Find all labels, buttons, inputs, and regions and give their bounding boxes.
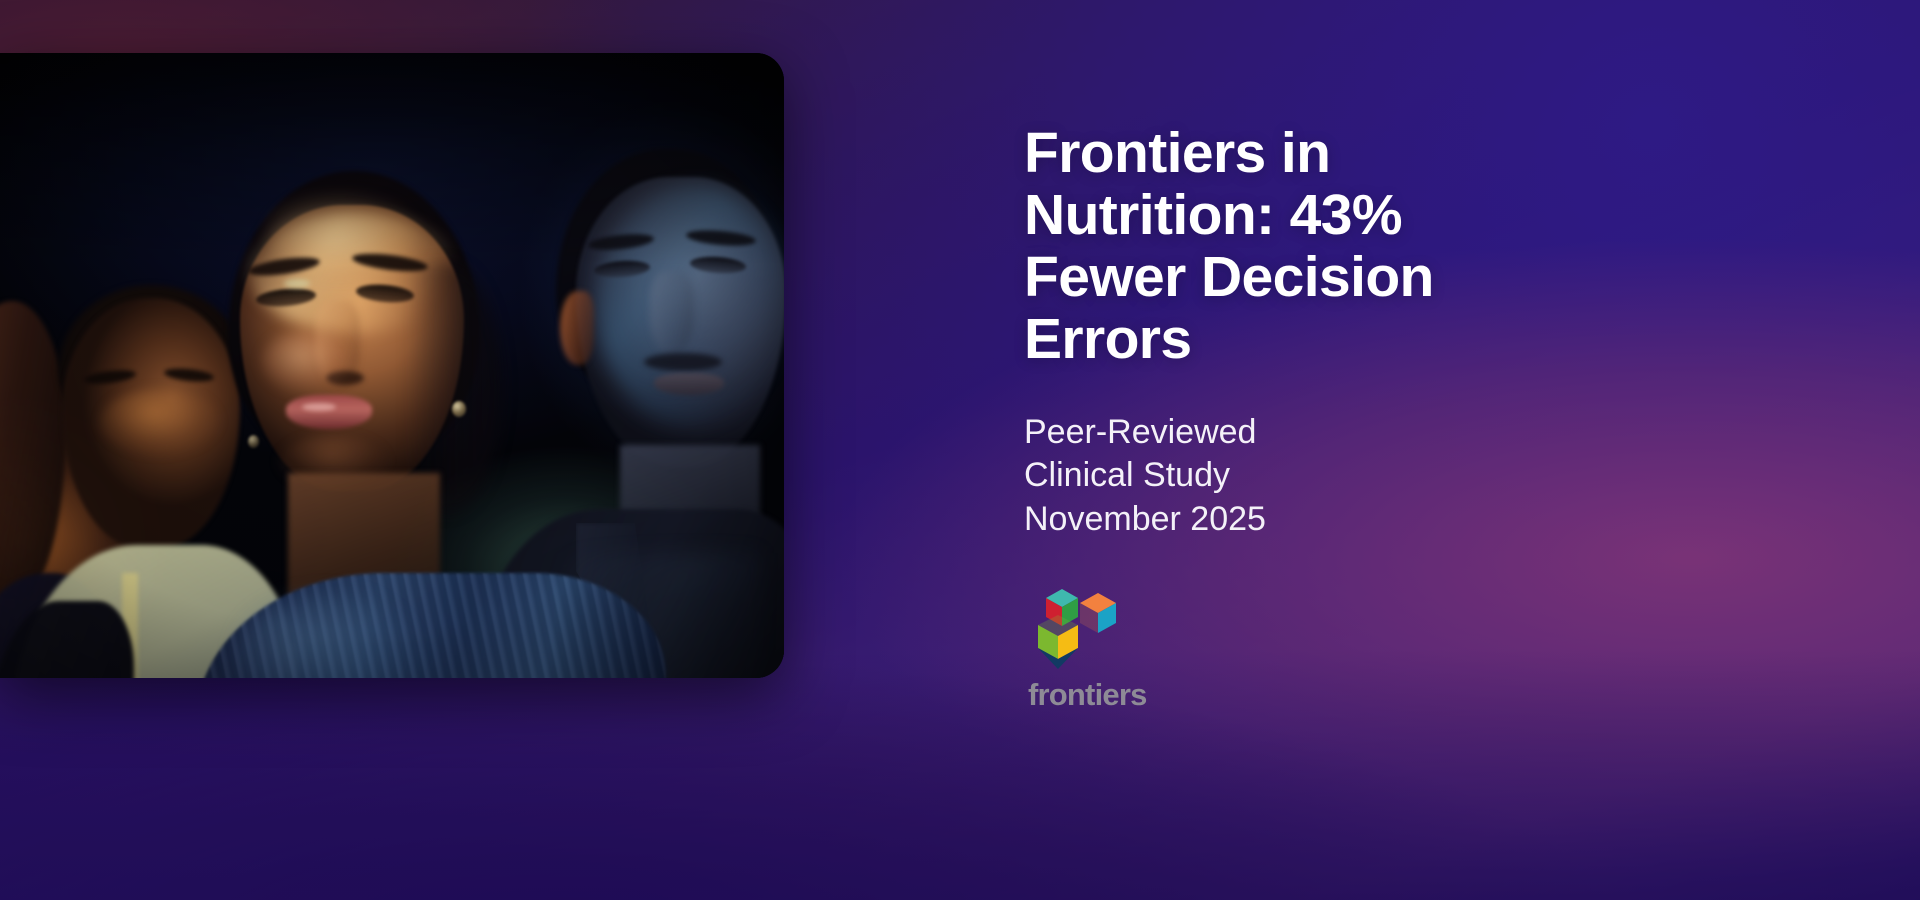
study-meta: Peer-Reviewed Clinical Study November 20…: [1024, 411, 1444, 542]
text-column: Frontiers in Nutrition: 43% Fewer Decisi…: [1024, 0, 1644, 900]
hero-photo: [0, 53, 784, 678]
study-meta-line-3: November 2025: [1024, 498, 1444, 542]
study-meta-line-2: Clinical Study: [1024, 454, 1444, 498]
promo-card: Frontiers in Nutrition: 43% Fewer Decisi…: [0, 0, 1920, 900]
photo-vignette: [0, 53, 784, 678]
frontiers-cube-logo-icon: [1024, 581, 1132, 673]
frontiers-wordmark: frontiers: [1028, 679, 1174, 710]
page-title: Frontiers in Nutrition: 43% Fewer Decisi…: [1024, 122, 1524, 371]
study-meta-line-1: Peer-Reviewed: [1024, 411, 1444, 455]
frontiers-logo: frontiers: [1024, 581, 1174, 710]
